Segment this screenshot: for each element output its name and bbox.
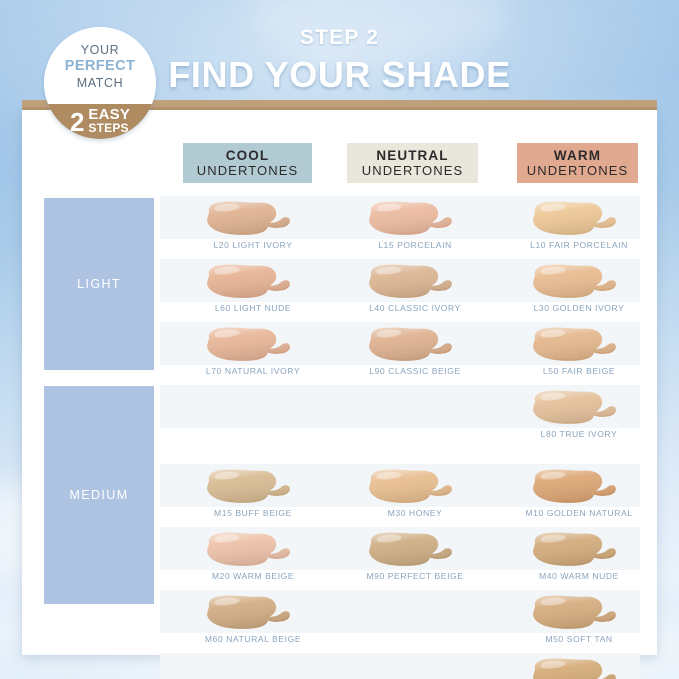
shade-cell[interactable]	[340, 259, 490, 302]
shade-label-cell: M60 NATURAL BEIGE	[178, 633, 328, 653]
shade-swatch-icon	[200, 467, 298, 505]
shade-label-cell: L50 FAIR BEIGE	[504, 365, 654, 385]
badge-line-easy: EASY	[88, 108, 130, 122]
column-header-neutral-title: NEUTRAL	[376, 148, 448, 163]
shade-cell[interactable]	[178, 259, 328, 302]
shade-name-label: M10 GOLDEN NATURAL	[504, 508, 654, 518]
table-row	[160, 196, 640, 239]
shade-label-cell	[340, 633, 490, 653]
shade-swatch-icon	[200, 325, 298, 363]
group-block-medium: MEDIUM	[44, 386, 154, 604]
shade-name-label: M20 WARM BEIGE	[178, 571, 328, 581]
shade-label-cell: L10 FAIR PORCELAIN	[504, 239, 654, 259]
table-row	[160, 322, 640, 365]
shade-label-cell: M10 GOLDEN NATURAL	[504, 507, 654, 527]
group-separator	[160, 448, 640, 464]
table-row-labels: M15 BUFF BEIGEM30 HONEYM10 GOLDEN NATURA…	[160, 507, 640, 527]
shade-name-label: M90 PERFECT BEIGE	[340, 571, 490, 581]
badge-steps-text: EASY STEPS	[88, 108, 130, 135]
table-row-labels: M20 WARM BEIGEM90 PERFECT BEIGEM40 WARM …	[160, 570, 640, 590]
badge-line-perfect: PERFECT	[65, 58, 135, 75]
shade-label-cell	[178, 428, 328, 448]
shade-cell	[340, 653, 490, 679]
shade-label-cell: L30 GOLDEN IVORY	[504, 302, 654, 322]
shade-swatch-icon	[200, 530, 298, 568]
table-row	[160, 464, 640, 507]
shade-swatch-icon	[362, 199, 460, 237]
table-row	[160, 590, 640, 633]
shade-swatch-icon	[362, 530, 460, 568]
shade-grid: L20 LIGHT IVORYL15 PORCELAINL10 FAIR POR…	[160, 196, 640, 679]
shade-cell[interactable]	[178, 590, 328, 633]
shade-cell[interactable]	[178, 196, 328, 239]
table-row	[160, 653, 640, 679]
column-header-warm-subtitle: UNDERTONES	[527, 163, 629, 178]
shade-name-label: L20 LIGHT IVORY	[178, 240, 328, 250]
column-header-warm-title: WARM	[554, 148, 601, 163]
perfect-match-badge: YOUR PERFECT MATCH 2 EASY STEPS	[44, 27, 156, 139]
shade-cell[interactable]	[504, 385, 654, 428]
shade-swatch-icon	[526, 530, 624, 568]
column-header-cool-title: COOL	[226, 148, 269, 163]
shade-swatch-icon	[362, 467, 460, 505]
shade-name-label: L50 FAIR BEIGE	[504, 366, 654, 376]
shade-name-label: L60 LIGHT NUDE	[178, 303, 328, 313]
shade-swatch-icon	[526, 467, 624, 505]
shade-swatch-icon	[200, 262, 298, 300]
shade-cell[interactable]	[504, 527, 654, 570]
shade-label-cell: L60 LIGHT NUDE	[178, 302, 328, 322]
shade-cell[interactable]	[504, 590, 654, 633]
shade-name-label: L15 PORCELAIN	[340, 240, 490, 250]
shade-label-cell: L90 CLASSIC BEIGE	[340, 365, 490, 385]
group-label-medium: MEDIUM	[69, 488, 128, 502]
shade-label-cell: M50 SOFT TAN	[504, 633, 654, 653]
shade-swatch-icon	[362, 262, 460, 300]
shade-label-cell: M40 WARM NUDE	[504, 570, 654, 590]
shade-label-cell: M20 WARM BEIGE	[178, 570, 328, 590]
column-header-neutral: NEUTRAL UNDERTONES	[347, 143, 478, 183]
shade-name-label: L10 FAIR PORCELAIN	[504, 240, 654, 250]
shade-swatch-icon	[526, 388, 624, 426]
badge-line-steps: STEPS	[88, 122, 128, 135]
shade-label-cell: L70 NATURAL IVORY	[178, 365, 328, 385]
shade-cell[interactable]	[178, 464, 328, 507]
table-row-labels: L20 LIGHT IVORYL15 PORCELAINL10 FAIR POR…	[160, 239, 640, 259]
shade-name-label: M40 WARM NUDE	[504, 571, 654, 581]
shade-swatch-icon	[526, 262, 624, 300]
shade-swatch-icon	[526, 325, 624, 363]
shade-label-cell: L15 PORCELAIN	[340, 239, 490, 259]
shade-label-cell: L80 TRUE IVORY	[504, 428, 654, 448]
shade-cell	[178, 653, 328, 679]
badge-top-half: YOUR PERFECT MATCH	[44, 27, 156, 104]
shade-cell[interactable]	[178, 322, 328, 365]
shade-cell	[340, 590, 490, 633]
shade-cell[interactable]	[340, 464, 490, 507]
shade-label-cell: M90 PERFECT BEIGE	[340, 570, 490, 590]
shade-name-label: L90 CLASSIC BEIGE	[340, 366, 490, 376]
shade-label-cell: M15 BUFF BEIGE	[178, 507, 328, 527]
table-row	[160, 385, 640, 428]
column-header-neutral-subtitle: UNDERTONES	[362, 163, 464, 178]
group-block-light: LIGHT	[44, 198, 154, 370]
badge-step-number: 2	[70, 109, 84, 135]
shade-swatch-icon	[526, 656, 624, 679]
shade-cell[interactable]	[340, 527, 490, 570]
badge-bottom-half: 2 EASY STEPS	[44, 104, 156, 139]
shade-name-label: M50 SOFT TAN	[504, 634, 654, 644]
shade-label-cell: L40 CLASSIC IVORY	[340, 302, 490, 322]
shade-cell[interactable]	[340, 322, 490, 365]
shade-name-label: L40 CLASSIC IVORY	[340, 303, 490, 313]
shade-label-cell: L20 LIGHT IVORY	[178, 239, 328, 259]
badge-line-your: YOUR	[81, 42, 120, 58]
shade-cell[interactable]	[178, 527, 328, 570]
shade-swatch-icon	[362, 325, 460, 363]
shade-cell	[178, 385, 328, 428]
shade-finder-poster: STEP 2 FIND YOUR SHADE YOUR PERFECT MATC…	[0, 0, 679, 679]
shade-name-label: L70 NATURAL IVORY	[178, 366, 328, 376]
shade-cell[interactable]	[340, 196, 490, 239]
shade-cell[interactable]	[504, 196, 654, 239]
shade-cell	[340, 385, 490, 428]
shade-cell[interactable]	[504, 464, 654, 507]
column-header-cool-subtitle: UNDERTONES	[197, 163, 299, 178]
shade-swatch-icon	[200, 593, 298, 631]
shade-swatch-icon	[526, 199, 624, 237]
table-row-labels: L60 LIGHT NUDEL40 CLASSIC IVORYL30 GOLDE…	[160, 302, 640, 322]
shade-label-cell	[340, 428, 490, 448]
shade-cell[interactable]	[504, 259, 654, 302]
table-row-labels: L70 NATURAL IVORYL90 CLASSIC BEIGEL50 FA…	[160, 365, 640, 385]
shade-cell[interactable]	[504, 322, 654, 365]
shade-swatch-icon	[526, 593, 624, 631]
badge-line-match: MATCH	[77, 75, 124, 91]
column-header-cool: COOL UNDERTONES	[183, 143, 312, 183]
shade-label-cell: M30 HONEY	[340, 507, 490, 527]
shade-name-label: M15 BUFF BEIGE	[178, 508, 328, 518]
shade-name-label: L30 GOLDEN IVORY	[504, 303, 654, 313]
group-label-light: LIGHT	[77, 277, 121, 291]
table-row-labels: L80 TRUE IVORY	[160, 428, 640, 448]
shade-swatch-icon	[200, 199, 298, 237]
table-row	[160, 259, 640, 302]
shade-name-label: L80 TRUE IVORY	[504, 429, 654, 439]
table-row-labels: M60 NATURAL BEIGEM50 SOFT TAN	[160, 633, 640, 653]
shade-name-label: M60 NATURAL BEIGE	[178, 634, 328, 644]
shade-name-label: M30 HONEY	[340, 508, 490, 518]
shade-cell[interactable]	[504, 653, 654, 679]
table-row	[160, 527, 640, 570]
column-header-warm: WARM UNDERTONES	[517, 143, 638, 183]
